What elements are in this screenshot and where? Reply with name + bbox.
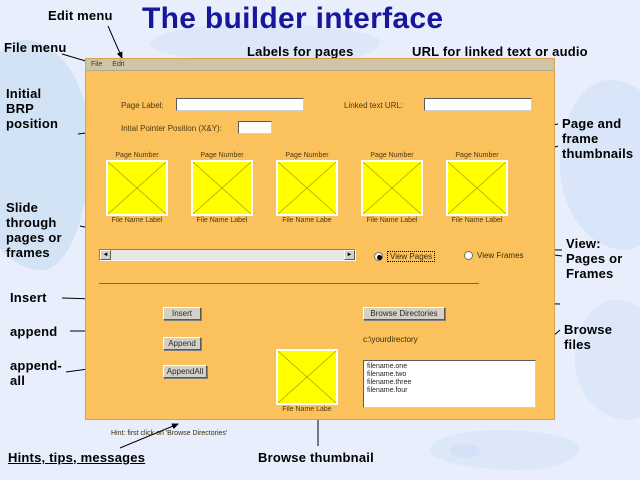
annotation-hints-tips: Hints, tips, messages [8,450,145,465]
scroll-left-arrow-icon[interactable]: ◄ [100,250,111,260]
page-thumbnail-3[interactable]: Page Number File Name Labe [276,151,338,225]
view-pages-label[interactable]: View Pages [387,251,435,262]
page-thumbnail-image[interactable] [276,160,338,216]
annotation-browse-files: Browse files [564,322,612,352]
page-number-label: Page Number [446,151,508,160]
page-thumbnail-1[interactable]: Page Number File Name Label [106,151,168,225]
pointer-position-label: Intial Pointer Position (X&Y): [121,124,222,133]
file-list-item[interactable]: filename.four [367,387,532,395]
page-title: The builder interface [142,2,522,36]
page-thumbnail-image[interactable] [106,160,168,216]
view-pages-radio-row[interactable]: View Pages [374,251,435,262]
hint-message: Hint: first click on 'Browse Directories… [111,429,227,438]
page-thumbnail-2[interactable]: Page Number File Name Label [191,151,253,225]
linked-url-input[interactable] [424,98,532,111]
file-list[interactable]: filename.one filename.two filename.three… [363,360,536,408]
slide-root: { "slide": { "title": "The builder inter… [0,0,640,480]
file-list-item[interactable]: filename.two [367,371,532,379]
annotation-url-linked-text: URL for linked text or audio [412,44,588,59]
file-name-label: File Name Labe [276,216,338,225]
view-frames-label[interactable]: View Frames [477,251,524,260]
section-divider [99,283,479,284]
page-number-label: Page Number [276,151,338,160]
view-frames-radio-row[interactable]: View Frames [464,251,524,260]
file-list-item[interactable]: filename.three [367,379,532,387]
annotation-append: append [10,324,57,339]
scrollbar-track[interactable] [111,250,344,260]
annotation-view-pages-frames: View: Pages or Frames [566,236,623,281]
page-thumbnail-5[interactable]: Page Number File Name Label [446,151,508,225]
page-thumbnail-image[interactable] [361,160,423,216]
annotation-edit-menu: Edit menu [48,8,113,23]
file-name-label: File Name Label [191,216,253,225]
page-thumbnail-image[interactable] [191,160,253,216]
page-label-input[interactable] [176,98,304,111]
menu-item-file[interactable]: File [91,61,102,69]
browse-thumbnail[interactable]: File Name Labe [276,349,338,414]
annotation-slide-through: Slide through pages or frames [6,200,62,260]
append-button[interactable]: Append [163,337,201,350]
page-label-label: Page Label: [121,101,164,110]
append-all-button[interactable]: AppendAll [163,365,207,378]
browse-thumbnail-image[interactable] [276,349,338,405]
map-watermark-bottom-right [575,300,640,420]
map-watermark-right [560,80,640,250]
page-number-label: Page Number [361,151,423,160]
builder-app-window: File Edit Page Label: Linked text URL: I… [85,58,555,420]
annotation-page-frame-thumbnails: Page and frame thumbnails [562,116,633,161]
annotation-insert: Insert [10,290,47,305]
annotation-initial-brp: Initial BRP position [6,86,58,131]
annotation-browse-thumbnail: Browse thumbnail [258,450,374,465]
browse-thumbnail-file-name: File Name Labe [276,405,338,414]
map-watermark-small [450,444,480,458]
annotation-labels-for-pages: Labels for pages [247,44,354,59]
pointer-position-input[interactable] [238,121,272,134]
page-scrollbar[interactable]: ◄ ► [99,249,356,261]
file-name-label: File Name Label [361,216,423,225]
page-number-label: Page Number [106,151,168,160]
annotation-append-all: append- all [10,358,62,388]
annotation-file-menu: File menu [4,40,66,55]
browse-directories-button[interactable]: Browse Directories [363,307,445,320]
page-thumbnail-4[interactable]: Page Number File Name Label [361,151,423,225]
view-frames-radio[interactable] [464,251,473,260]
insert-button[interactable]: Insert [163,307,201,320]
scroll-right-arrow-icon[interactable]: ► [344,250,355,260]
directory-path-text: c:\yourdirectory [363,335,418,344]
leader-edit-menu [108,26,122,58]
file-name-label: File Name Label [446,216,508,225]
file-list-item[interactable]: filename.one [367,363,532,371]
linked-url-label: Linked text URL: [344,101,403,110]
view-pages-radio[interactable] [374,252,383,261]
menubar: File Edit [86,59,554,71]
file-name-label: File Name Label [106,216,168,225]
menu-item-edit[interactable]: Edit [112,61,124,69]
page-number-label: Page Number [191,151,253,160]
page-thumbnail-image[interactable] [446,160,508,216]
app-body: Page Label: Linked text URL: Intial Poin… [86,71,554,420]
